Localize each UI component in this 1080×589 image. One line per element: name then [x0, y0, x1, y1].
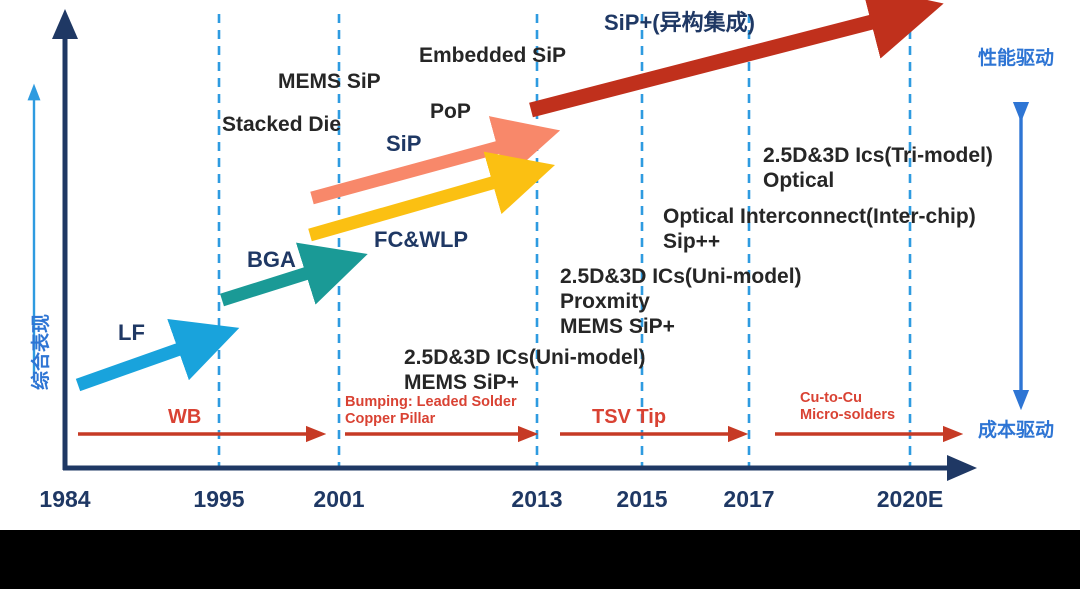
- cost-label-bumping: Bumping: Leaded Solder Copper Pillar: [345, 394, 517, 428]
- trend-label-fcwlp: FC&WLP: [374, 227, 468, 253]
- diagram-canvas: 综合表现 性能驱动 成本驱动 Stacked Die MEMS SiP Embe…: [0, 0, 1080, 589]
- performance-driven-label: 性能驱动: [978, 48, 1054, 70]
- tech-label-embedded-sip: Embedded SiP: [419, 44, 566, 69]
- year-label-1984: 1984: [25, 486, 105, 513]
- tech-label-stacked-die: Stacked Die: [222, 113, 341, 138]
- diagram-white-area: 综合表现 性能驱动 成本驱动 Stacked Die MEMS SiP Embe…: [0, 0, 1080, 530]
- tech-block-tri-model: 2.5D&3D Ics(Tri-model) Optical: [763, 144, 993, 194]
- tech-block-uni-model-2001: 2.5D&3D ICs(Uni-model) MEMS SiP+: [404, 346, 646, 396]
- cost-label-cutocu: Cu-to-Cu Micro-solders: [800, 390, 895, 424]
- year-label-2020E: 2020E: [862, 486, 958, 513]
- trend-label-sip: SiP: [386, 131, 421, 157]
- cost-label-tsv: TSV Tip: [592, 406, 666, 430]
- diagram-graphics: [0, 0, 1080, 530]
- y-axis-label: 综合表现: [26, 314, 53, 390]
- trend-label-lf: LF: [118, 320, 145, 346]
- cost-driven-label: 成本驱动: [978, 420, 1054, 442]
- trend-label-sipplus: SiP+(异构集成): [604, 10, 755, 36]
- year-label-2001: 2001: [299, 486, 379, 513]
- year-label-2015: 2015: [602, 486, 682, 513]
- cost-label-wb: WB: [168, 406, 201, 430]
- tech-label-pop: PoP: [430, 100, 471, 125]
- tech-block-uni-model-2013: 2.5D&3D ICs(Uni-model) Proxmity MEMS SiP…: [560, 265, 802, 339]
- year-label-2013: 2013: [497, 486, 577, 513]
- trend-label-bga: BGA: [247, 247, 296, 273]
- year-label-1995: 1995: [179, 486, 259, 513]
- tech-label-mems-sip: MEMS SiP: [278, 70, 381, 95]
- year-label-2017: 2017: [709, 486, 789, 513]
- tech-block-optical-interconnect: Optical Interconnect(Inter-chip) Sip++: [663, 205, 976, 255]
- trend-arrow-lf: [78, 340, 205, 385]
